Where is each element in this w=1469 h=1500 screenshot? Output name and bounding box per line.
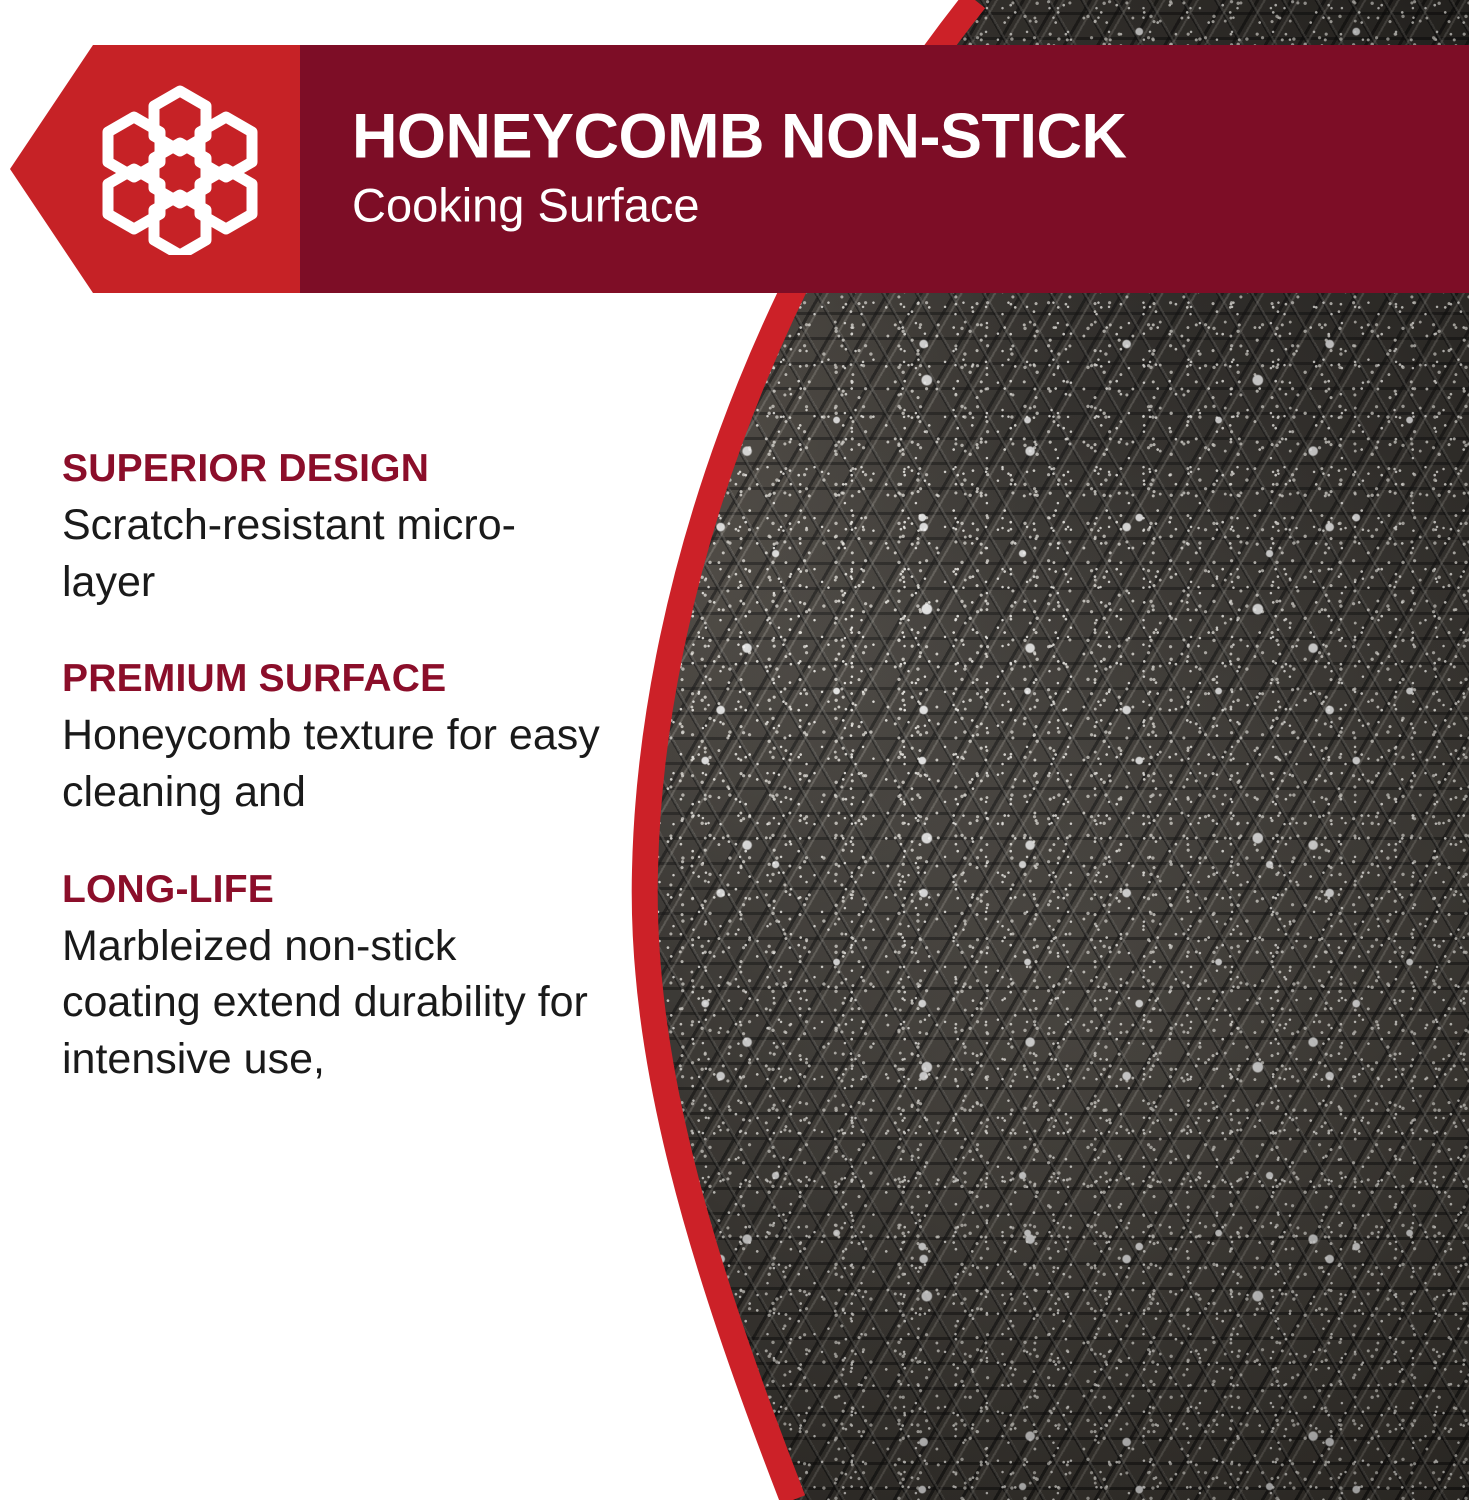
feature-heading: LONG-LIFE xyxy=(62,869,602,912)
banner-subtitle: Cooking Surface xyxy=(352,178,1127,234)
feature-list: SUPERIOR DESIGN Scratch-resistant micro-… xyxy=(62,448,602,1088)
feature-heading: PREMIUM SURFACE xyxy=(62,658,602,701)
feature-item: SUPERIOR DESIGN Scratch-resistant micro-… xyxy=(62,448,602,610)
header-banner: HONEYCOMB NON-STICK Cooking Surface xyxy=(0,45,1469,293)
feature-body: Honeycomb texture for easy cleaning and xyxy=(62,707,602,821)
banner-text-block: HONEYCOMB NON-STICK Cooking Surface xyxy=(352,104,1127,235)
banner-title: HONEYCOMB NON-STICK xyxy=(352,104,1127,170)
feature-heading: SUPERIOR DESIGN xyxy=(62,448,602,491)
feature-item: LONG-LIFE Marbleized non-stick coating e… xyxy=(62,869,602,1088)
feature-item: PREMIUM SURFACE Honeycomb texture for ea… xyxy=(62,658,602,820)
feature-body: Marbleized non-stick coating extend dura… xyxy=(62,918,602,1088)
feature-body: Scratch-resistant micro-layer xyxy=(62,497,602,611)
honeycomb-icon xyxy=(96,83,264,255)
infographic-page: HONEYCOMB NON-STICK Cooking Surface SUPE… xyxy=(0,0,1469,1500)
